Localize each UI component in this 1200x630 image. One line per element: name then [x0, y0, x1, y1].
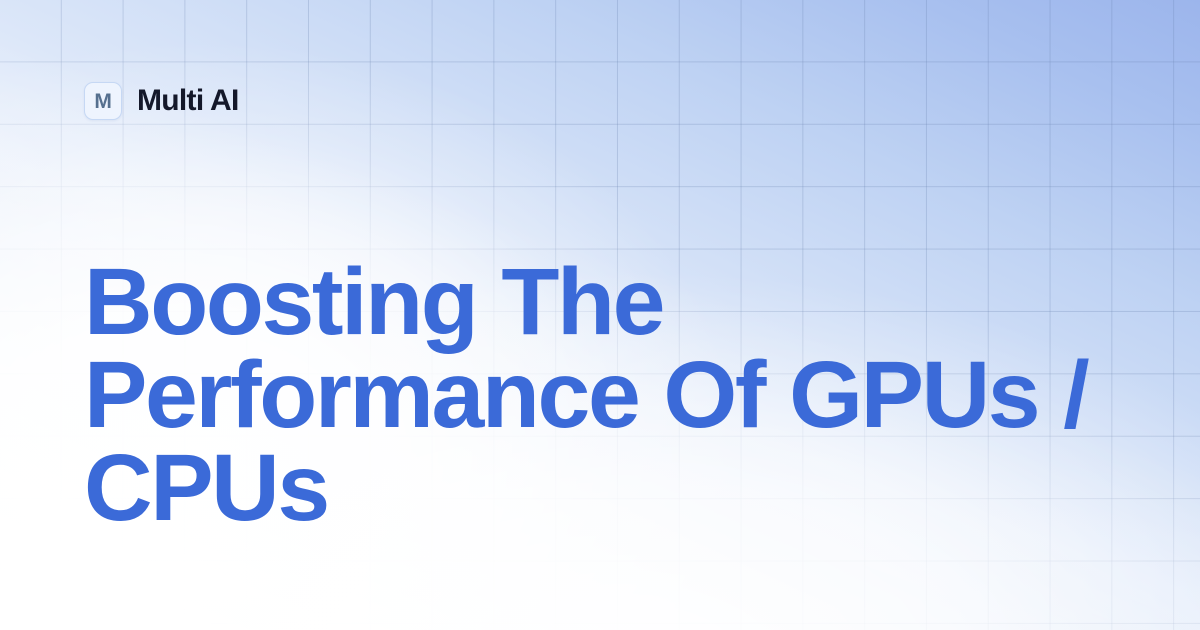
page-title-text: Boosting The Performance Of GPUs / CPUs	[84, 249, 1087, 541]
brand-name-label: Multi AI	[137, 86, 239, 116]
card-content: M Multi AI Boosting The Performance Of G…	[0, 0, 1200, 630]
brand-lockup[interactable]: M Multi AI	[84, 82, 239, 120]
page-title: Boosting The Performance Of GPUs / CPUs	[84, 256, 1154, 535]
og-card: M Multi AI Boosting The Performance Of G…	[0, 0, 1200, 630]
brand-logo-badge: M	[84, 82, 122, 120]
